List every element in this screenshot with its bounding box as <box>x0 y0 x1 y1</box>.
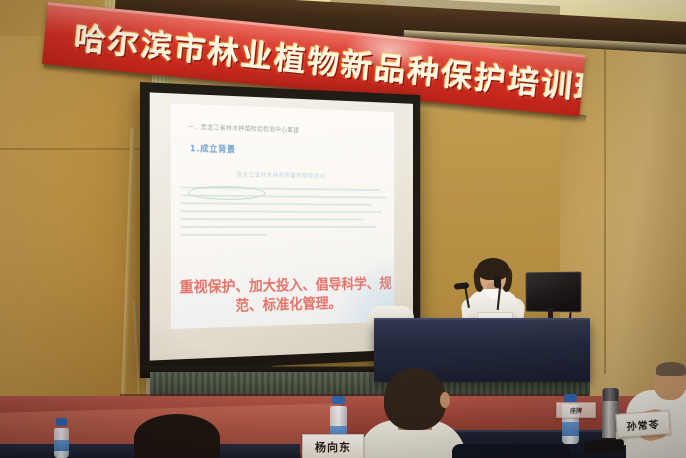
water-bottle <box>54 418 69 458</box>
green-ellipse-annotation <box>188 186 265 200</box>
audience-hair-right <box>656 362 686 376</box>
slide-subheading: 1.成立背景 <box>190 141 236 155</box>
mobile-phone <box>584 439 625 453</box>
conference-room-photo: 哈尔滨市林业植物新品种保护培训班 一、黑龙江省林木种苗检验检测中心筹建 1.成立… <box>0 0 686 458</box>
audience-ear-center <box>440 392 450 408</box>
name-placard-front: 杨向东 <box>302 434 364 458</box>
slide-heading: 一、黑龙江省林木种苗检验检测中心筹建 <box>188 122 299 134</box>
speaker-hair <box>477 258 509 280</box>
projected-slide: 一、黑龙江省林木种苗检验检测中心筹建 1.成立背景 黑龙江省林木种苗质量检验检测… <box>171 103 394 329</box>
audience-head-left <box>134 414 220 458</box>
name-placard-far: 座牌 <box>556 402 596 418</box>
wall-corner-edge <box>604 44 606 374</box>
slide-document-title: 黑龙江省林木种苗质量检验检测站 <box>236 170 325 180</box>
monitor-screen <box>526 272 582 313</box>
name-placard-right: 孙常苓 <box>615 410 671 438</box>
audience-head-center <box>384 368 446 430</box>
foreground-chair-back <box>452 444 570 458</box>
microphone-head-right <box>494 276 501 288</box>
